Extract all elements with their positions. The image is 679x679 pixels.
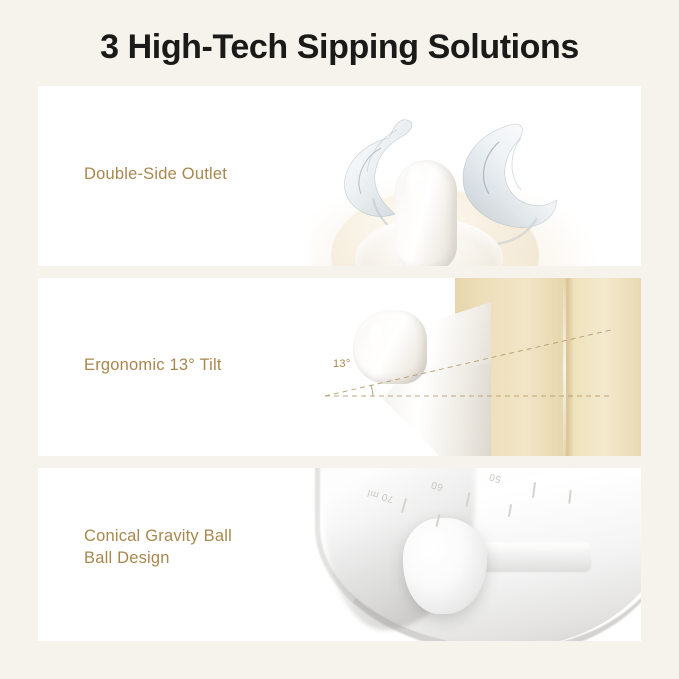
- nipple-tip-shape: [395, 160, 457, 266]
- nipple-tip-shape: [353, 310, 427, 384]
- product-image-gravity-ball: 70 ml 60 50: [311, 468, 641, 641]
- product-image-dual-outlet: [311, 86, 641, 266]
- feature-label-ergonomic-tilt: Ergonomic 13° Tilt: [84, 355, 222, 377]
- tilt-angle-label: 13°: [333, 358, 351, 370]
- feature-label-double-side-outlet: Double-Side Outlet: [84, 164, 227, 186]
- feature-label-gravity-ball: Conical Gravity Ball Ball Design: [84, 526, 232, 570]
- feature-card-gravity-ball: 70 ml 60 50 Conical Gravity Ball Ball De…: [38, 468, 641, 641]
- feature-card-double-side-outlet: Double-Side Outlet: [38, 86, 641, 266]
- feature-card-ergonomic-tilt: 13° Ergonomic 13° Tilt: [38, 278, 641, 456]
- infographic-page: 3 High-Tech Sipping Solutions: [0, 0, 679, 679]
- product-image-tilt: 13°: [311, 278, 641, 456]
- page-title: 3 High-Tech Sipping Solutions: [0, 28, 679, 67]
